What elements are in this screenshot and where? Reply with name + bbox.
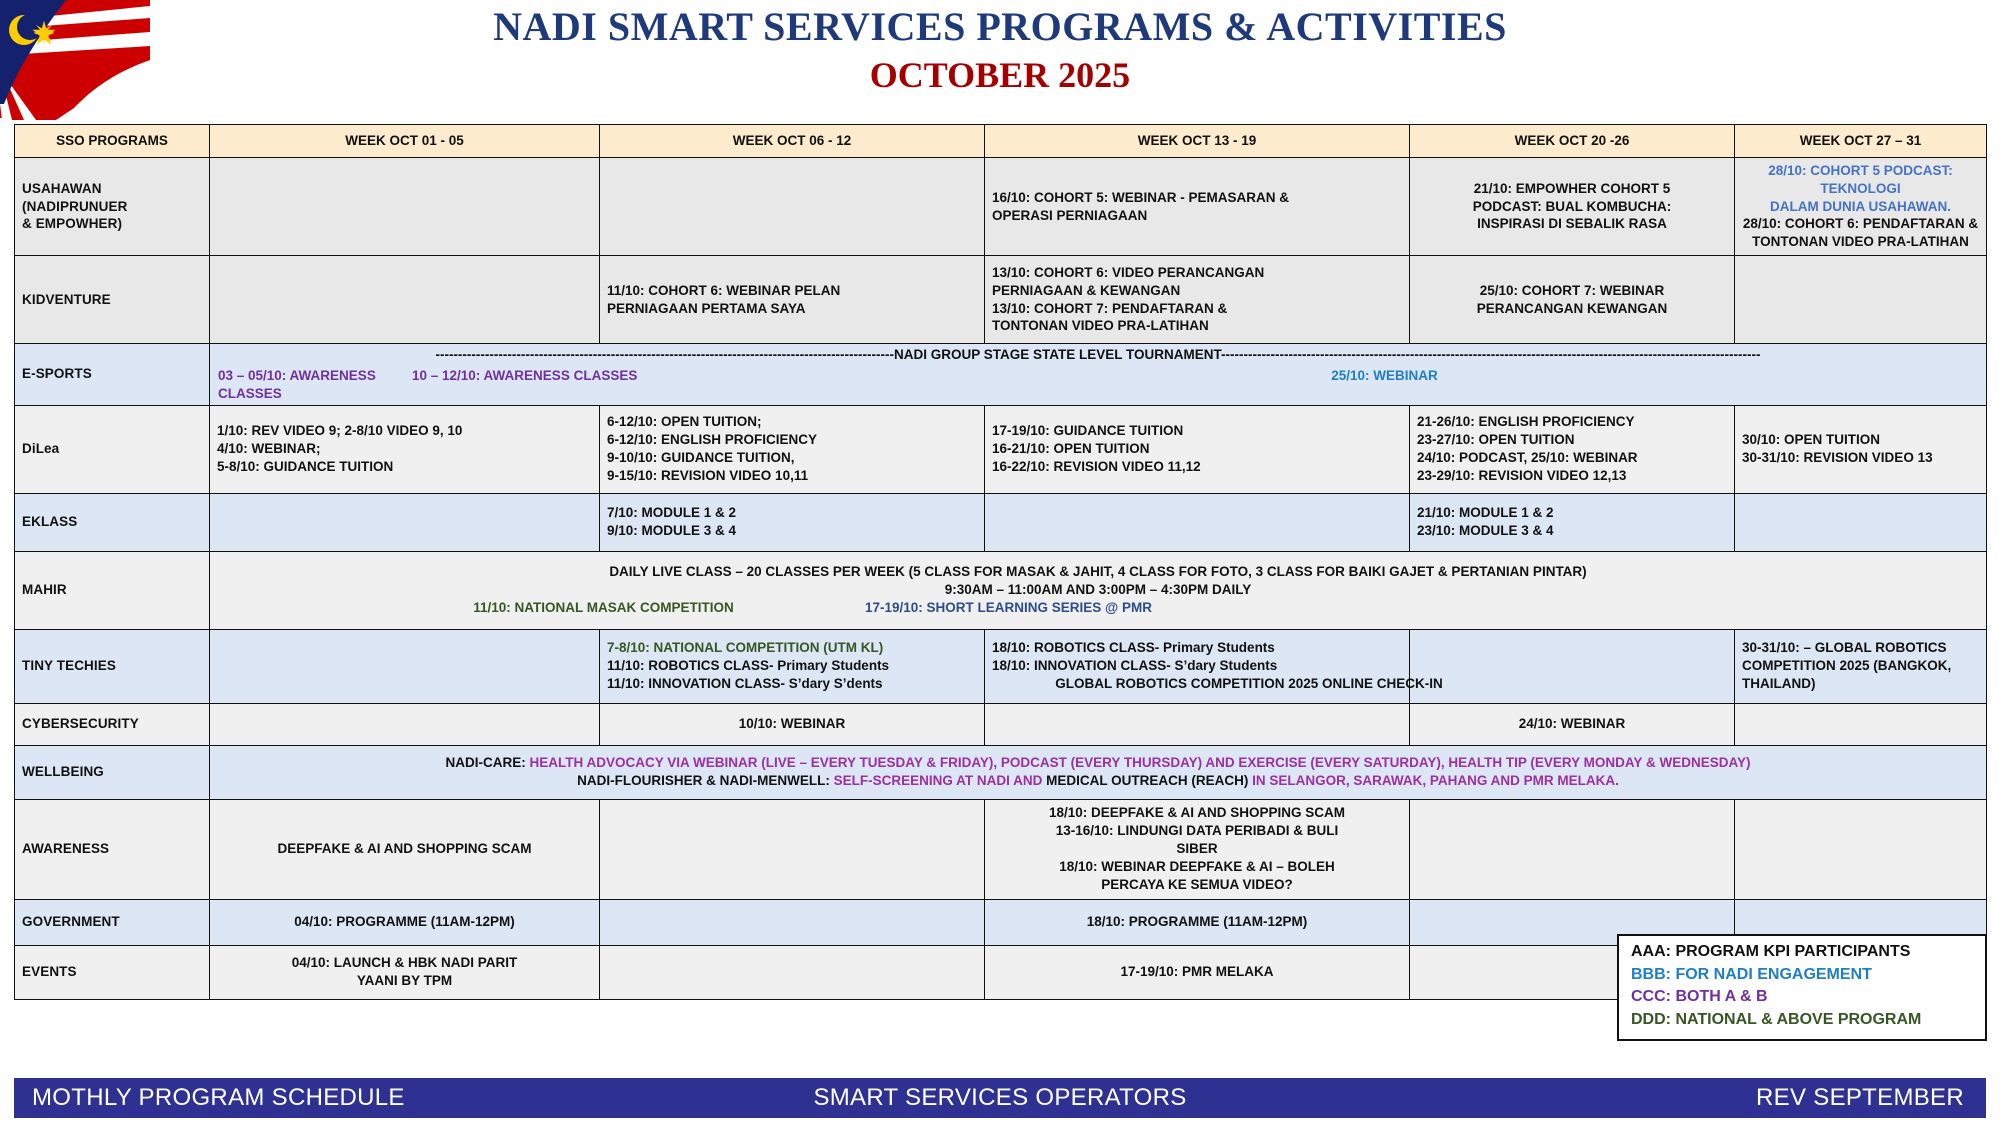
table-row-kidventure: KIDVENTURE 11/10: COHORT 6: WEBINAR PELA…: [15, 256, 1987, 344]
cell-kidventure-w2: 11/10: COHORT 6: WEBINAR PELAN PERNIAGAA…: [600, 256, 985, 344]
row-label-wellbeing: WELLBEING: [15, 745, 210, 799]
mahir-short-learning-series: 17-19/10: SHORT LEARNING SERIES @ PMR: [796, 599, 1221, 617]
cell-cybersecurity-w4: 24/10: WEBINAR: [1410, 703, 1735, 745]
cell-usahawan-w4: 21/10: EMPOWHER COHORT 5 PODCAST: BUAL K…: [1410, 158, 1735, 256]
cell-usahawan-w1: [210, 158, 600, 256]
row-label-tinytechies: TINY TECHIES: [15, 629, 210, 703]
table-header-row: SSO PROGRAMS WEEK OCT 01 - 05 WEEK OCT 0…: [15, 125, 1987, 158]
cell-dilea-w4: 21-26/10: ENGLISH PROFICIENCY 23-27/10: …: [1410, 405, 1735, 493]
cell-awareness-w5: [1735, 799, 1987, 899]
table-row-eklass: EKLASS 7/10: MODULE 1 & 2 9/10: MODULE 3…: [15, 493, 1987, 551]
cell-tinytechies-w3: 18/10: ROBOTICS CLASS- Primary Students …: [985, 629, 1410, 703]
row-label-government: GOVERNMENT: [15, 899, 210, 945]
row-label-mahir: MAHIR: [15, 551, 210, 629]
schedule-page: NADI SMART SERVICES PROGRAMS & ACTIVITIE…: [0, 0, 2000, 1125]
page-title-block: NADI SMART SERVICES PROGRAMS & ACTIVITIE…: [0, 4, 2000, 97]
cell-mahir-span: DAILY LIVE CLASS – 20 CLASSES PER WEEK (…: [210, 551, 1987, 629]
cell-tinytechies-w2: 7-8/10: NATIONAL COMPETITION (UTM KL) 11…: [600, 629, 985, 703]
cell-eklass-w5: [1735, 493, 1987, 551]
esports-w4: 25/10: WEBINAR: [1222, 367, 1547, 403]
schedule-table: SSO PROGRAMS WEEK OCT 01 - 05 WEEK OCT 0…: [14, 124, 1987, 1000]
page-title: NADI SMART SERVICES PROGRAMS & ACTIVITIE…: [0, 4, 2000, 50]
row-label-esports: E-SPORTS: [15, 344, 210, 405]
cell-wellbeing-span: NADI-CARE: HEALTH ADVOCACY VIA WEBINAR (…: [210, 745, 1987, 799]
table-row-tinytechies: TINY TECHIES 7-8/10: NATIONAL COMPETITIO…: [15, 629, 1987, 703]
cell-kidventure-w5: [1735, 256, 1987, 344]
mahir-masak-competition: 11/10: NATIONAL MASAK COMPETITION: [411, 599, 796, 617]
legend-bbb: BBB: FOR NADI ENGAGEMENT: [1631, 964, 1975, 987]
table-row-cybersecurity: CYBERSECURITY 10/10: WEBINAR 24/10: WEBI…: [15, 703, 1987, 745]
cell-government-w2: [600, 899, 985, 945]
esports-w1: 03 – 05/10: AWARENESS CLASSES: [218, 367, 412, 403]
legend-aaa: AAA: PROGRAM KPI PARTICIPANTS: [1631, 941, 1975, 964]
cell-awareness-w4: [1410, 799, 1735, 899]
col-header-week2: WEEK OCT 06 - 12: [600, 125, 985, 158]
footer-left: MOTHLY PROGRAM SCHEDULE: [14, 1084, 444, 1112]
cell-events-w2: [600, 945, 985, 999]
cell-cybersecurity-w2: 10/10: WEBINAR: [600, 703, 985, 745]
cell-dilea-w5: 30/10: OPEN TUITION 30-31/10: REVISION V…: [1735, 405, 1987, 493]
esports-tournament-banner: ----------------------------------------…: [218, 346, 1978, 364]
row-label-dilea: DiLea: [15, 405, 210, 493]
footer-center: SMART SERVICES OPERATORS: [444, 1084, 1556, 1112]
legend-box: AAA: PROGRAM KPI PARTICIPANTS BBB: FOR N…: [1617, 934, 1987, 1041]
cell-awareness-w3: 18/10: DEEPFAKE & AI AND SHOPPING SCAM 1…: [985, 799, 1410, 899]
row-label-awareness: AWARENESS: [15, 799, 210, 899]
col-header-week3: WEEK OCT 13 - 19: [985, 125, 1410, 158]
cell-events-w3: 17-19/10: PMR MELAKA: [985, 945, 1410, 999]
esports-w3: [797, 367, 1222, 403]
col-header-sso: SSO PROGRAMS: [15, 125, 210, 158]
cell-eklass-w2: 7/10: MODULE 1 & 2 9/10: MODULE 3 & 4: [600, 493, 985, 551]
footer-right: REV SEPTEMBER: [1556, 1084, 1986, 1112]
table-row-awareness: AWARENESS DEEPFAKE & AI AND SHOPPING SCA…: [15, 799, 1987, 899]
wellbeing-line-1: NADI-CARE: HEALTH ADVOCACY VIA WEBINAR (…: [216, 754, 1980, 772]
cell-cybersecurity-w1: [210, 703, 600, 745]
esports-week-line: 03 – 05/10: AWARENESS CLASSES 10 – 12/10…: [218, 367, 1978, 403]
esports-w2: 10 – 12/10: AWARENESS CLASSES: [412, 367, 797, 403]
cell-tinytechies-w1: [210, 629, 600, 703]
col-header-week1: WEEK OCT 01 - 05: [210, 125, 600, 158]
table-row-dilea: DiLea 1/10: REV VIDEO 9; 2-8/10 VIDEO 9,…: [15, 405, 1987, 493]
legend-ccc: CCC: BOTH A & B: [1631, 986, 1975, 1009]
row-label-cybersecurity: CYBERSECURITY: [15, 703, 210, 745]
cell-cybersecurity-w5: [1735, 703, 1987, 745]
cell-dilea-w2: 6-12/10: OPEN TUITION; 6-12/10: ENGLISH …: [600, 405, 985, 493]
table-row-usahawan: USAHAWAN (NADIPRUNUER & EMPOWHER) 16/10:…: [15, 158, 1987, 256]
cell-usahawan-w2: [600, 158, 985, 256]
cell-cybersecurity-w3: [985, 703, 1410, 745]
cell-events-w1: 04/10: LAUNCH & HBK NADI PARIT YAANI BY …: [210, 945, 600, 999]
cell-awareness-w1: DEEPFAKE & AI AND SHOPPING SCAM: [210, 799, 600, 899]
cell-kidventure-w4: 25/10: COHORT 7: WEBINAR PERANCANGAN KEW…: [1410, 256, 1735, 344]
col-header-week5: WEEK OCT 27 – 31: [1735, 125, 1987, 158]
row-label-kidventure: KIDVENTURE: [15, 256, 210, 344]
cell-usahawan-w5: 28/10: COHORT 5 PODCAST: TEKNOLOGI DALAM…: [1735, 158, 1987, 256]
cell-tinytechies-w4: [1410, 629, 1735, 703]
cell-eklass-w1: [210, 493, 600, 551]
cell-esports-span: ----------------------------------------…: [210, 344, 1987, 405]
cell-dilea-w3: 17-19/10: GUIDANCE TUITION 16-21/10: OPE…: [985, 405, 1410, 493]
cell-government-w3: 18/10: PROGRAMME (11AM-12PM): [985, 899, 1410, 945]
cell-awareness-w2: [600, 799, 985, 899]
cell-kidventure-w3: 13/10: COHORT 6: VIDEO PERANCANGAN PERNI…: [985, 256, 1410, 344]
row-label-events: EVENTS: [15, 945, 210, 999]
cell-eklass-w4: 21/10: MODULE 1 & 2 23/10: MODULE 3 & 4: [1410, 493, 1735, 551]
row-label-usahawan: USAHAWAN (NADIPRUNUER & EMPOWHER): [15, 158, 210, 256]
cell-dilea-w1: 1/10: REV VIDEO 9; 2-8/10 VIDEO 9, 10 4/…: [210, 405, 600, 493]
cell-usahawan-w3: 16/10: COHORT 5: WEBINAR - PEMASARAN & O…: [985, 158, 1410, 256]
footer-bar: MOTHLY PROGRAM SCHEDULE SMART SERVICES O…: [14, 1078, 1986, 1118]
table-row-wellbeing: WELLBEING NADI-CARE: HEALTH ADVOCACY VIA…: [15, 745, 1987, 799]
row-label-eklass: EKLASS: [15, 493, 210, 551]
table-row-esports: E-SPORTS -------------------------------…: [15, 344, 1987, 405]
col-header-week4: WEEK OCT 20 -26: [1410, 125, 1735, 158]
legend-ddd: DDD: NATIONAL & ABOVE PROGRAM: [1631, 1009, 1975, 1032]
cell-tinytechies-w5: 30-31/10: – GLOBAL ROBOTICS COMPETITION …: [1735, 629, 1987, 703]
esports-w5: [1547, 367, 1799, 403]
cell-eklass-w3: [985, 493, 1410, 551]
mahir-line-1: DAILY LIVE CLASS – 20 CLASSES PER WEEK (…: [217, 563, 1979, 581]
mahir-line-3: 11/10: NATIONAL MASAK COMPETITION 17-19/…: [217, 599, 1979, 617]
mahir-line-2: 9:30AM – 11:00AM AND 3:00PM – 4:30PM DAI…: [217, 581, 1979, 599]
cell-government-w1: 04/10: PROGRAMME (11AM-12PM): [210, 899, 600, 945]
page-subtitle: OCTOBER 2025: [0, 54, 2000, 97]
cell-kidventure-w1: [210, 256, 600, 344]
table-row-mahir: MAHIR DAILY LIVE CLASS – 20 CLASSES PER …: [15, 551, 1987, 629]
wellbeing-line-2: NADI-FLOURISHER & NADI-MENWELL: SELF-SCR…: [216, 772, 1980, 790]
